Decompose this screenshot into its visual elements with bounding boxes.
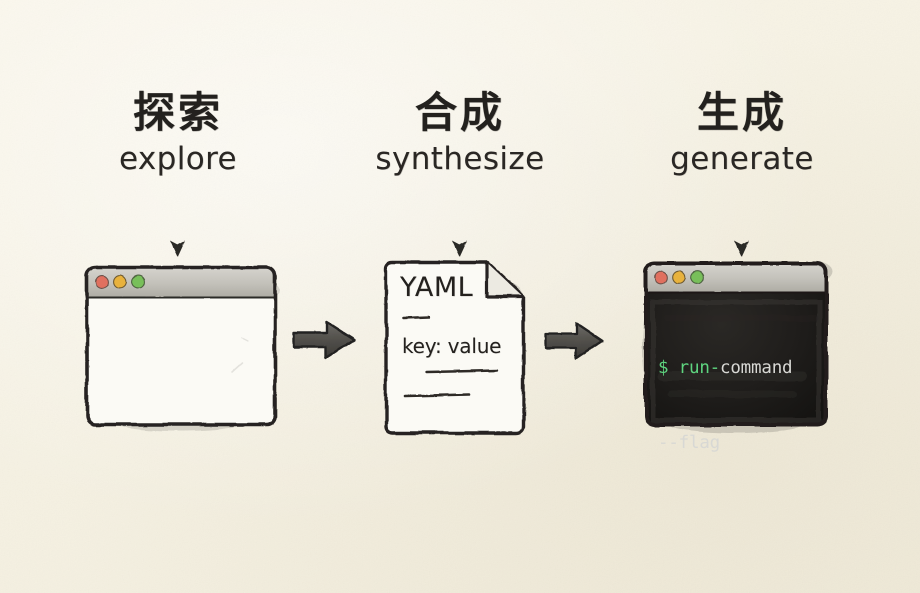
document-rule-2 xyxy=(427,371,497,373)
traffic-light-yellow xyxy=(114,276,127,289)
stage-explore: 探索 explore xyxy=(62,92,294,175)
stage-explore-title-en: explore xyxy=(62,144,294,175)
terminal-prompt: $ run- xyxy=(658,358,720,378)
terminal-window[interactable]: $ run-command --flag xyxy=(641,258,831,430)
arrow-down-icon xyxy=(447,210,473,258)
arrow-down-icon xyxy=(165,210,191,258)
traffic-light-red xyxy=(96,276,109,289)
stage-synthesize-title-en: synthesize xyxy=(344,144,576,175)
arrow-down-icon xyxy=(729,210,755,258)
traffic-lights xyxy=(655,271,704,284)
yaml-document[interactable]: YAML key: value xyxy=(385,256,530,434)
traffic-light-green xyxy=(691,271,704,284)
browser-window[interactable] xyxy=(82,262,280,430)
stage-generate: 生成 generate xyxy=(626,92,858,175)
stage-generate-title-en: generate xyxy=(626,144,858,175)
terminal-flag: --flag xyxy=(658,433,720,453)
terminal-line-1: $ run-command xyxy=(658,356,828,381)
stage-synthesize: 合成 synthesize xyxy=(344,92,576,175)
traffic-light-red xyxy=(655,271,668,284)
stage-generate-title-cjk: 生成 xyxy=(626,92,858,134)
terminal-output: $ run-command --flag xyxy=(658,306,828,506)
terminal-line-2: --flag xyxy=(658,431,828,456)
traffic-light-yellow xyxy=(673,271,686,284)
stage-explore-title-cjk: 探索 xyxy=(62,92,294,134)
stage-synthesize-title-cjk: 合成 xyxy=(344,92,576,134)
diagram-canvas: 探索 explore xyxy=(0,0,920,593)
terminal-command: command xyxy=(720,358,792,378)
traffic-light-green xyxy=(132,276,145,289)
arrow-right-icon xyxy=(544,320,604,362)
arrow-right-icon xyxy=(292,318,356,362)
document-rule-3 xyxy=(405,395,469,397)
document-rule-1 xyxy=(403,317,429,318)
traffic-lights xyxy=(96,276,145,289)
